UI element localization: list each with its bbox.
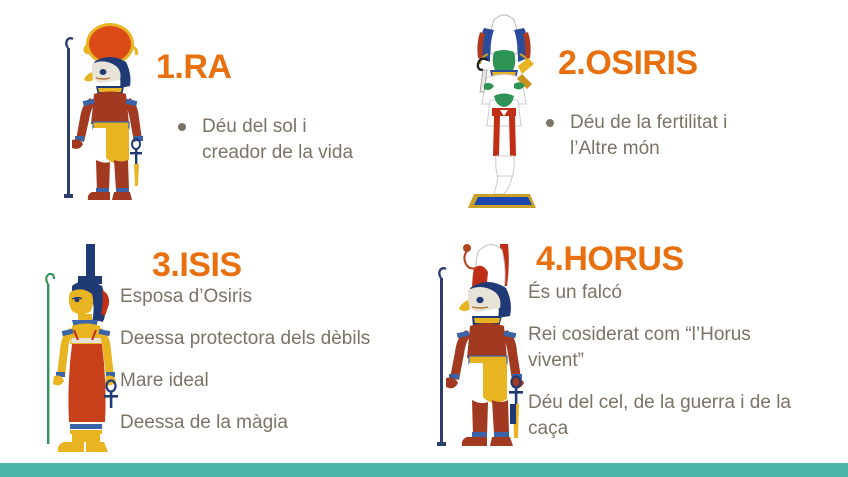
text-line: És un falcó	[528, 280, 848, 306]
text-line: Deessa protectora dels dèbils	[120, 326, 420, 352]
pedestal	[468, 194, 536, 208]
osiris-mummy-god-illustration	[454, 8, 554, 213]
bullet-dot-icon	[546, 119, 554, 127]
list-item: Déu del sol i	[174, 114, 414, 140]
ankh-icon	[130, 139, 142, 186]
list-item: l’Altre món	[542, 136, 812, 162]
bullet-list-ra: Déu del sol i creador de la vida	[174, 114, 414, 166]
list-item-label: Déu del sol i	[202, 116, 307, 137]
list-item: creador de la vida	[174, 140, 414, 166]
ra-falcon-god-illustration	[46, 14, 156, 206]
text-line: Mare ideal	[120, 368, 420, 394]
section-osiris: 2.OSIRIS Déu de la fertilitat i l’Altre …	[424, 0, 848, 238]
bottom-accent-bar	[0, 463, 848, 477]
horus-staff-icon	[437, 268, 446, 446]
text-line: vivent”	[528, 348, 848, 374]
section-ra: 1.RA Déu del sol i creador de la vida	[0, 0, 424, 238]
text-line: Déu del cel, de la guerra i de la	[528, 390, 848, 416]
section-isis: 3.ISIS Esposa d’Osiris Deessa protectora…	[0, 238, 424, 464]
bullet-dot-icon	[178, 123, 186, 131]
list-item-label: creador de la vida	[202, 142, 353, 163]
text-line: Deessa de la màgia	[120, 410, 420, 436]
text-line: Rei cosiderat com “l’Horus	[528, 322, 848, 348]
section-horus: 4.HORUS És un falcó Rei cosiderat com “l…	[424, 238, 848, 464]
section-heading-isis: 3.ISIS	[152, 248, 242, 282]
text-block-horus: És un falcó Rei cosiderat com “l’Horus v…	[528, 280, 848, 442]
section-heading-horus: 4.HORUS	[536, 242, 684, 276]
text-line: caça	[528, 416, 848, 442]
text-block-isis: Esposa d’Osiris Deessa protectora dels d…	[120, 284, 420, 436]
text-line: Esposa d’Osiris	[120, 284, 420, 310]
list-item: Déu de la fertilitat i	[542, 110, 812, 136]
list-item-label: l’Altre món	[570, 138, 660, 159]
ra-staff-icon	[64, 38, 73, 198]
bullet-list-osiris: Déu de la fertilitat i l’Altre món	[542, 110, 812, 162]
list-item-label: Déu de la fertilitat i	[570, 112, 727, 133]
section-heading-ra: 1.RA	[156, 50, 231, 84]
section-heading-osiris: 2.OSIRIS	[558, 46, 698, 80]
slide-canvas: 1.RA Déu del sol i creador de la vida	[0, 0, 848, 477]
